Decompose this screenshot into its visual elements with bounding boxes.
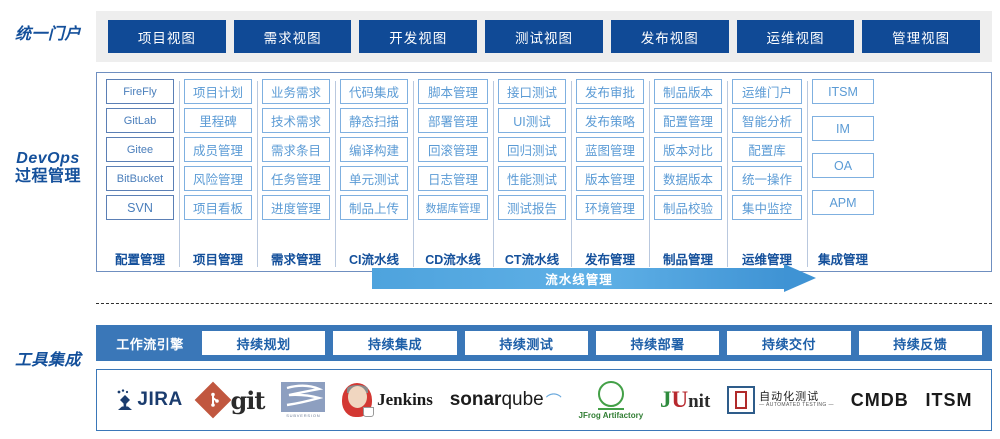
junit-logo-text: JUnit	[660, 387, 710, 413]
devops-cell[interactable]: 智能分析	[732, 108, 802, 133]
devops-column-title: 项目管理	[193, 249, 243, 271]
git-logo: git	[200, 378, 265, 422]
devops-column-title: 配置管理	[115, 249, 165, 271]
pipeline-arrow: 流水线管理	[372, 268, 816, 289]
devops-cell[interactable]: 回滚管理	[418, 137, 488, 162]
devops-column-2: 项目计划里程碑成员管理风险管理项目看板项目管理	[179, 79, 257, 271]
jfrog-bar-icon	[598, 408, 624, 410]
devops-cell[interactable]: ITSM	[812, 79, 874, 104]
jira-logo: JIRA	[115, 378, 182, 422]
devops-cell[interactable]: 脚本管理	[418, 79, 488, 104]
git-logo-text: git	[231, 386, 265, 415]
workflow-engine-label: 工作流引擎	[102, 334, 198, 353]
portal-button-2[interactable]: 需求视图	[234, 20, 352, 53]
portal-bar: 项目视图需求视图开发视图测试视图发布视图运维视图管理视图	[96, 11, 992, 62]
devops-column-cells: 代码集成静态扫描编译构建单元测试制品上传	[340, 79, 408, 247]
devops-cell[interactable]: 需求条目	[262, 137, 330, 162]
pipeline-arrow-label: 流水线管理	[372, 268, 786, 289]
subversion-logo: SUBVERSION	[281, 378, 325, 422]
devops-column-cells: 运维门户智能分析配置库统一操作集中监控	[732, 79, 802, 247]
cmdb-logo: CMDB	[851, 378, 909, 422]
portal-button-7[interactable]: 管理视图	[862, 20, 980, 53]
jfrog-artifactory-logo: JFrog Artifactory	[579, 378, 644, 422]
portal-button-4[interactable]: 测试视图	[485, 20, 603, 53]
workflow-stage-5[interactable]: 持续交付	[727, 331, 850, 355]
devops-cell[interactable]: 环境管理	[576, 195, 644, 220]
devops-cell[interactable]: 运维门户	[732, 79, 802, 104]
devops-cell[interactable]: APM	[812, 190, 874, 215]
devops-cell[interactable]: 接口测试	[498, 79, 566, 104]
workflow-bar: 工作流引擎 持续规划持续集成持续测试持续部署持续交付持续反馈	[96, 325, 992, 361]
devops-cell[interactable]: 制品版本	[654, 79, 722, 104]
devops-column-9: 运维门户智能分析配置库统一操作集中监控运维管理	[727, 79, 807, 271]
automated-testing-logo: 自动化测试— AUTOMATED TESTING —	[727, 378, 834, 422]
devops-column-8: 制品版本配置管理版本对比数据版本制品校验制品管理	[649, 79, 727, 271]
devops-column-cells: 业务需求技术需求需求条目任务管理进度管理	[262, 79, 330, 247]
tools-row-label: 工具集成	[0, 352, 96, 370]
devops-cell[interactable]: 日志管理	[418, 166, 488, 191]
sonarqube-logo: sonarqube⌒	[450, 378, 562, 422]
devops-cell[interactable]: 制品上传	[340, 195, 408, 220]
devops-cell[interactable]: 集中监控	[732, 195, 802, 220]
itsm-logo: ITSM	[926, 378, 973, 422]
devops-column-cells: ITSMIMOAAPM	[812, 79, 874, 247]
devops-cell[interactable]: 部署管理	[418, 108, 488, 133]
devops-cell[interactable]: 配置库	[732, 137, 802, 162]
devops-cell[interactable]: FireFly	[106, 79, 174, 104]
portal-button-5[interactable]: 发布视图	[611, 20, 729, 53]
jenkins-butler-icon	[342, 383, 372, 417]
jenkins-logo-text: Jenkins	[377, 390, 433, 410]
jira-logo-text: JIRA	[137, 389, 182, 411]
devops-cell[interactable]: 业务需求	[262, 79, 330, 104]
git-diamond-icon	[194, 382, 231, 419]
jfrog-logo-text: JFrog Artifactory	[579, 411, 644, 420]
devops-cell[interactable]: 制品校验	[654, 195, 722, 220]
devops-cell[interactable]: 里程碑	[184, 108, 252, 133]
devops-cell[interactable]: Gitee	[106, 137, 174, 162]
devops-column-7: 发布审批发布策略蓝图管理版本管理环境管理发布管理	[571, 79, 649, 271]
devops-cell[interactable]: 风险管理	[184, 166, 252, 191]
devops-cell[interactable]: 性能测试	[498, 166, 566, 191]
portal-button-1[interactable]: 项目视图	[108, 20, 226, 53]
devops-column-cells: 脚本管理部署管理回滚管理日志管理数据库管理	[418, 79, 488, 247]
devops-cell[interactable]: BitBucket	[106, 166, 174, 191]
workflow-stage-2[interactable]: 持续集成	[333, 331, 456, 355]
sonarqube-logo-text: sonarqube⌒	[450, 388, 562, 412]
devops-cell[interactable]: 版本管理	[576, 166, 644, 191]
pipeline-arrow-head	[784, 264, 816, 292]
devops-cell[interactable]: 数据版本	[654, 166, 722, 191]
subversion-mark-icon	[281, 382, 325, 412]
section-divider	[96, 303, 992, 304]
devops-cell[interactable]: SVN	[106, 195, 174, 220]
junit-logo: JUnit	[660, 378, 710, 422]
devops-row-label-main: DevOps	[0, 150, 96, 168]
devops-cell[interactable]: 成员管理	[184, 137, 252, 162]
devops-cell[interactable]: 回归测试	[498, 137, 566, 162]
devops-cell[interactable]: 发布策略	[576, 108, 644, 133]
devops-cell[interactable]: 代码集成	[340, 79, 408, 104]
devops-cell[interactable]: 蓝图管理	[576, 137, 644, 162]
jenkins-logo: Jenkins	[342, 378, 433, 422]
devops-column-4: 代码集成静态扫描编译构建单元测试制品上传CI流水线	[335, 79, 413, 271]
devops-cell[interactable]: 项目计划	[184, 79, 252, 104]
devops-row-label: DevOps 过程管理	[0, 150, 96, 186]
portal-button-3[interactable]: 开发视图	[359, 20, 477, 53]
devops-cell[interactable]: 技术需求	[262, 108, 330, 133]
devops-column-10: ITSMIMOAAPM集成管理	[807, 79, 879, 271]
devops-column-cells: 项目计划里程碑成员管理风险管理项目看板	[184, 79, 252, 247]
devops-cell[interactable]: 统一操作	[732, 166, 802, 191]
devops-panel: FireFlyGitLabGiteeBitBucketSVN配置管理项目计划里程…	[96, 72, 992, 272]
tool-logo-strip: JIRA git SUBVERSIONJenkinssonarqube⌒JFro…	[96, 369, 992, 431]
subversion-logo-text: SUBVERSION	[286, 413, 320, 418]
devops-cell[interactable]: 编译构建	[340, 137, 408, 162]
devops-column-title: 需求管理	[271, 249, 321, 271]
devops-cell[interactable]: 测试报告	[498, 195, 566, 220]
itsm-logo-text: ITSM	[926, 390, 973, 411]
devops-cell[interactable]: 任务管理	[262, 166, 330, 191]
automated-testing-mark-icon	[727, 386, 755, 414]
workflow-stage-1[interactable]: 持续规划	[202, 331, 325, 355]
workflow-stage-4[interactable]: 持续部署	[596, 331, 719, 355]
portal-row-label: 统一门户	[0, 26, 96, 44]
automated-testing-logo-sub: — AUTOMATED TESTING —	[759, 403, 834, 409]
devops-cell[interactable]: GitLab	[106, 108, 174, 133]
workflow-stage-6[interactable]: 持续反馈	[859, 331, 982, 355]
portal-button-6[interactable]: 运维视图	[737, 20, 855, 53]
devops-cell[interactable]: 数据库管理	[418, 195, 488, 220]
cmdb-logo-text: CMDB	[851, 390, 909, 411]
devops-column-cells: 接口测试UI测试回归测试性能测试测试报告	[498, 79, 566, 247]
devops-column-title: 集成管理	[818, 249, 868, 271]
devops-cell[interactable]: 单元测试	[340, 166, 408, 191]
devops-column-cells: 发布审批发布策略蓝图管理版本管理环境管理	[576, 79, 644, 247]
devops-column-3: 业务需求技术需求需求条目任务管理进度管理需求管理	[257, 79, 335, 271]
devops-column-1: FireFlyGitLabGiteeBitBucketSVN配置管理	[101, 79, 179, 271]
devops-cell[interactable]: 发布审批	[576, 79, 644, 104]
devops-column-5: 脚本管理部署管理回滚管理日志管理数据库管理CD流水线	[413, 79, 493, 271]
devops-column-6: 接口测试UI测试回归测试性能测试测试报告CT流水线	[493, 79, 571, 271]
devops-architecture-diagram: 统一门户 项目视图需求视图开发视图测试视图发布视图运维视图管理视图 DevOps…	[0, 0, 1000, 439]
devops-row-label-sub: 过程管理	[0, 168, 96, 186]
jira-glyph-icon	[115, 389, 135, 411]
jfrog-circle-icon	[598, 381, 624, 407]
devops-cell[interactable]: 项目看板	[184, 195, 252, 220]
devops-column-cells: 制品版本配置管理版本对比数据版本制品校验	[654, 79, 722, 247]
devops-cell[interactable]: IM	[812, 116, 874, 141]
devops-column-cells: FireFlyGitLabGiteeBitBucketSVN	[106, 79, 174, 247]
devops-cell[interactable]: 版本对比	[654, 137, 722, 162]
workflow-stage-3[interactable]: 持续测试	[465, 331, 588, 355]
devops-cell[interactable]: OA	[812, 153, 874, 178]
devops-cell[interactable]: UI测试	[498, 108, 566, 133]
devops-cell[interactable]: 配置管理	[654, 108, 722, 133]
devops-cell[interactable]: 静态扫描	[340, 108, 408, 133]
devops-cell[interactable]: 进度管理	[262, 195, 330, 220]
